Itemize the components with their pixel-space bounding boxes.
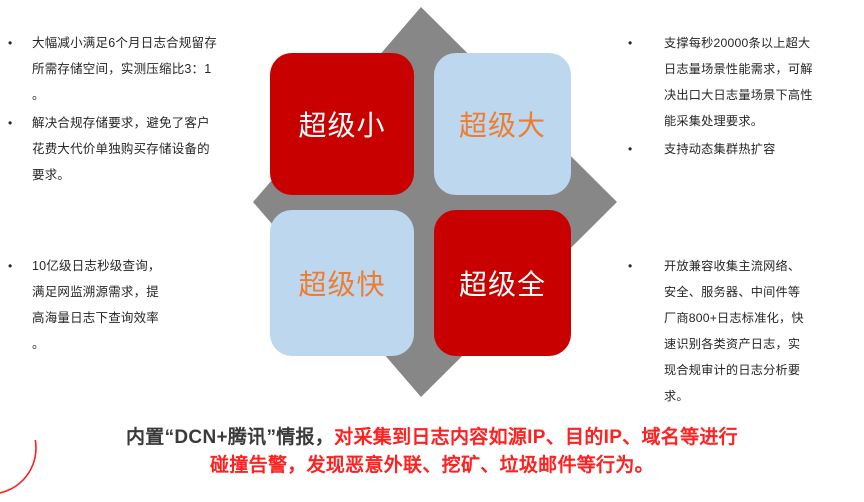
list-item-text: 支撑每秒20000条以上超大 日志量场景性能需求，可解 决出口大日志量场景下高性…	[664, 30, 864, 134]
list-item: • 10亿级日志秒级查询， 满足网监溯源需求，提 高海量日志下查询效率 。	[0, 253, 265, 357]
quadrant-top-left[interactable]: 超级小	[270, 53, 414, 195]
bottom-caption: 内置“DCN+腾讯”情报，对采集到日志内容如源IP、目的IP、域名等进行 碰撞告…	[0, 424, 864, 480]
bullet-marker-icon: •	[0, 30, 32, 56]
four-quadrant-diamond-diagram: 超级小 超级大 超级快 超级全	[249, 3, 621, 401]
quadrant-bottom-right[interactable]: 超级全	[434, 210, 571, 356]
list-item: • 开放兼容收集主流网络、 安全、服务器、中间件等 厂商800+日志标准化，快 …	[622, 253, 864, 409]
list-item-text: 支持动态集群热扩容	[664, 136, 864, 162]
bullet-marker-icon: •	[622, 253, 664, 279]
caption-line-2: 碰撞告警，发现恶意外联、挖矿、垃圾邮件等行为。	[0, 452, 864, 480]
right-bullets-lower: • 开放兼容收集主流网络、 安全、服务器、中间件等 厂商800+日志标准化，快 …	[622, 253, 864, 411]
quadrant-label: 超级小	[298, 104, 385, 144]
quadrant-bottom-left[interactable]: 超级快	[270, 210, 414, 356]
list-item: • 支撑每秒20000条以上超大 日志量场景性能需求，可解 决出口大日志量场景下…	[622, 30, 864, 134]
bullet-marker-icon: •	[622, 136, 664, 162]
quadrant-label: 超级快	[298, 263, 385, 303]
caption-line-2-red: 碰撞告警，发现恶意外联、挖矿、垃圾邮件等行为。	[210, 455, 654, 476]
list-item: • 解决合规存储要求，避免了客户 花费大代价单独购买存储设备的 要求。	[0, 110, 265, 188]
quadrant-label: 超级大	[459, 104, 546, 144]
left-bullets-lower: • 10亿级日志秒级查询， 满足网监溯源需求，提 高海量日志下查询效率 。	[0, 253, 265, 359]
list-item: • 支持动态集群热扩容	[622, 136, 864, 162]
list-item-text: 开放兼容收集主流网络、 安全、服务器、中间件等 厂商800+日志标准化，快 速识…	[664, 253, 864, 409]
caption-line-1-dark: 内置“DCN+腾讯”情报，	[126, 427, 334, 448]
caption-line-1-red: 对采集到日志内容如源IP、目的IP、域名等进行	[334, 427, 738, 448]
list-item: • 大幅减小满足6个月日志合规留存 所需存储空间，实测压缩比3：1 。	[0, 30, 265, 108]
list-item-text: 大幅减小满足6个月日志合规留存 所需存储空间，实测压缩比3：1 。	[32, 30, 265, 108]
bullet-marker-icon: •	[0, 110, 32, 136]
right-bullets-upper: • 支撑每秒20000条以上超大 日志量场景性能需求，可解 决出口大日志量场景下…	[622, 30, 864, 164]
bullet-marker-icon: •	[0, 253, 32, 279]
left-bullets-upper: • 大幅减小满足6个月日志合规留存 所需存储空间，实测压缩比3：1 。 • 解决…	[0, 30, 265, 190]
caption-line-1: 内置“DCN+腾讯”情报，对采集到日志内容如源IP、目的IP、域名等进行	[0, 424, 864, 452]
bullet-marker-icon: •	[622, 30, 664, 56]
quadrant-label: 超级全	[459, 263, 546, 303]
corner-arc-decoration	[0, 440, 44, 502]
quadrant-top-right[interactable]: 超级大	[434, 53, 571, 195]
list-item-text: 解决合规存储要求，避免了客户 花费大代价单独购买存储设备的 要求。	[32, 110, 265, 188]
list-item-text: 10亿级日志秒级查询， 满足网监溯源需求，提 高海量日志下查询效率 。	[32, 253, 265, 357]
